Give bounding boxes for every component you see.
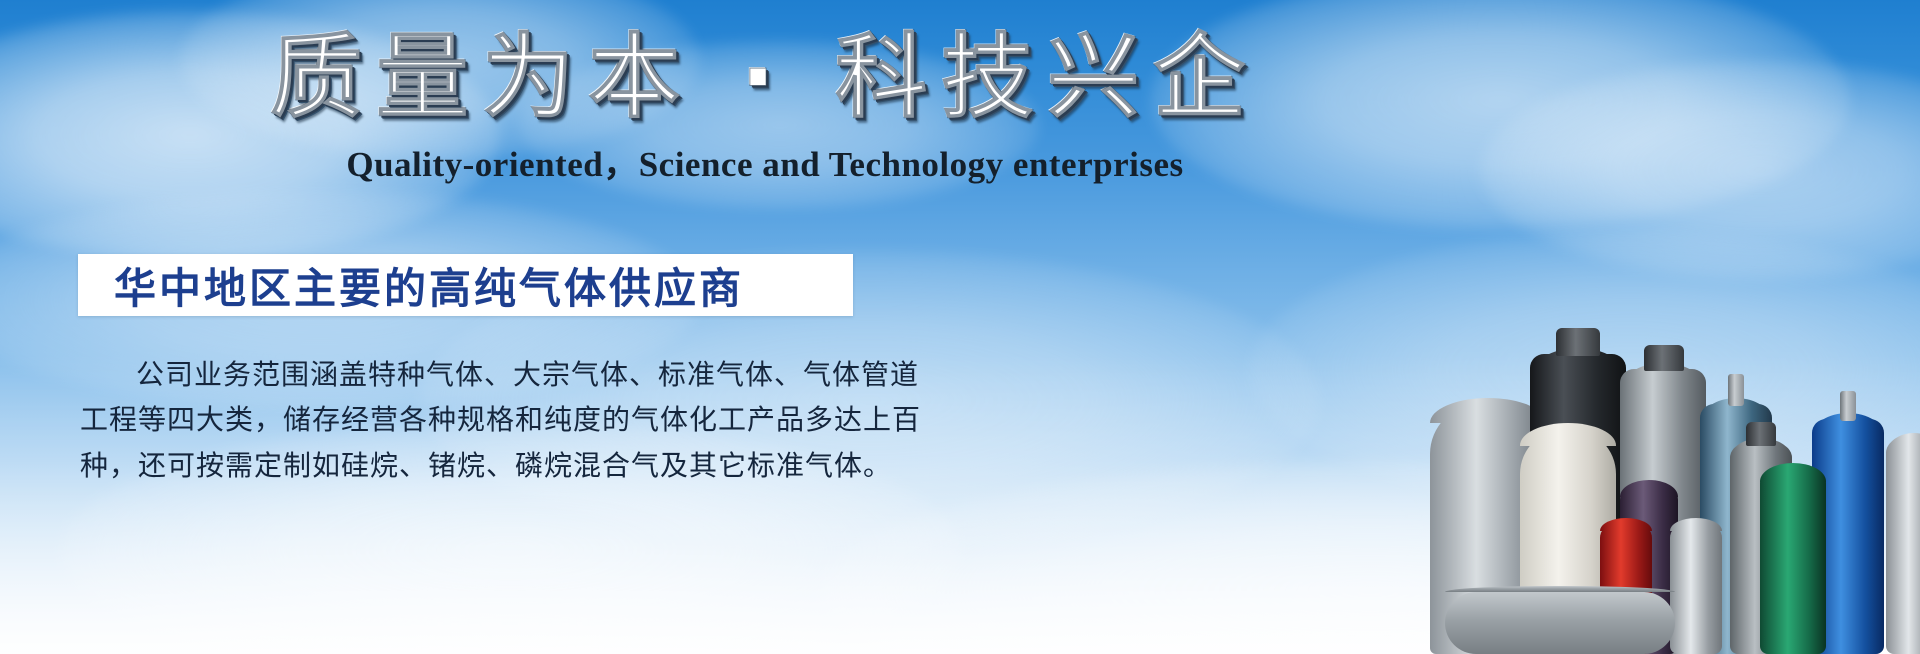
banner-headline: 质量为本 · 科技兴企 [0, 26, 1530, 129]
cylinder-valve [1728, 374, 1744, 406]
gas-cylinder-group-image [1200, 154, 1920, 654]
slogan-band: 华中地区主要的高纯气体供应商 [78, 254, 853, 316]
description-line: 公司业务范围涵盖特种气体、大宗气体、标准气体、气体管道 [80, 352, 870, 397]
promo-banner: 质量为本 · 科技兴企 Quality-oriented，Science and… [0, 0, 1920, 654]
description-line: 工程等四大类，储存经营各种规格和纯度的气体化工产品多达上百 [80, 397, 870, 442]
description-paragraph: 公司业务范围涵盖特种气体、大宗气体、标准气体、气体管道 工程等四大类，储存经营各… [80, 352, 870, 488]
description-line: 种，还可按需定制如硅烷、锗烷、磷烷混合气及其它标准气体。 [80, 443, 870, 488]
cylinder-valve-cap [1556, 328, 1600, 356]
cylinder-valve-cap [1644, 345, 1684, 371]
cylinder-valve-cap [1746, 422, 1776, 446]
slogan-text: 华中地区主要的高纯气体供应商 [78, 255, 744, 316]
gas-cylinder-horizontal [1445, 592, 1675, 654]
gas-cylinder [1886, 439, 1920, 654]
cylinder-valve [1840, 391, 1856, 421]
gas-cylinder [1760, 469, 1826, 654]
gas-cylinder [1670, 524, 1722, 654]
